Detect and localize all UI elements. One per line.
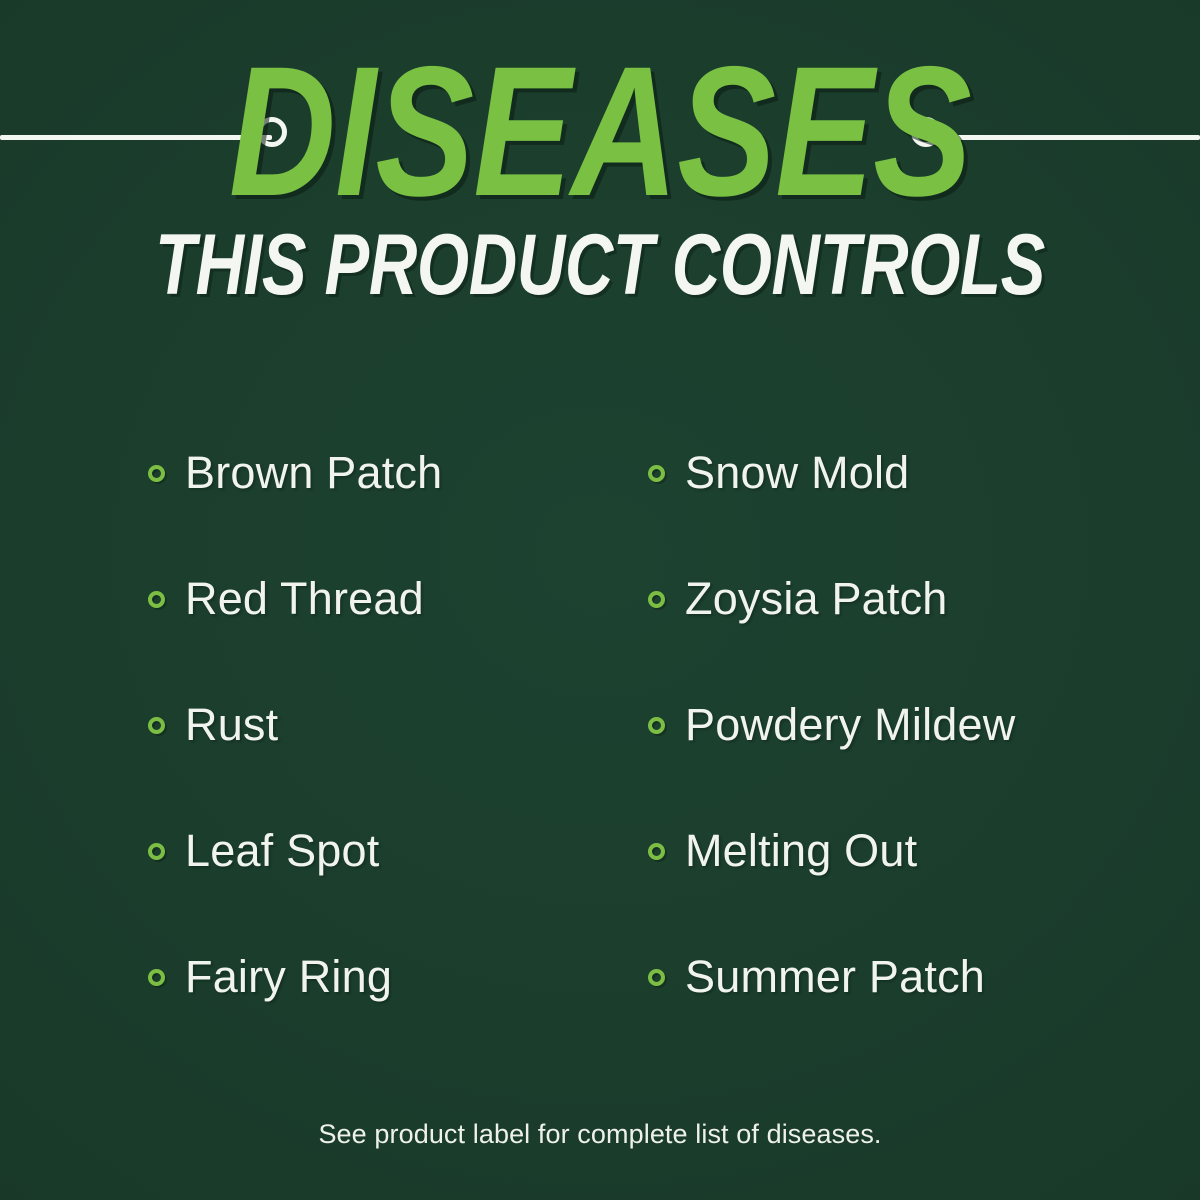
- disease-label: Powdery Mildew: [685, 700, 1015, 750]
- disease-label: Brown Patch: [185, 448, 442, 498]
- page-title: DISEASES: [120, 40, 1080, 225]
- circle-outline-bullet-icon: [648, 591, 665, 608]
- list-item: Zoysia Patch: [648, 536, 1148, 662]
- list-item: Fairy Ring: [148, 914, 648, 1040]
- circle-outline-bullet-icon: [148, 969, 165, 986]
- circle-outline-bullet-icon: [148, 717, 165, 734]
- circle-outline-bullet-icon: [648, 969, 665, 986]
- circle-outline-bullet-icon: [148, 591, 165, 608]
- disease-label: Red Thread: [185, 574, 424, 624]
- disease-label: Zoysia Patch: [685, 574, 948, 624]
- disease-label: Snow Mold: [685, 448, 909, 498]
- footer-disclaimer: See product label for complete list of d…: [0, 1117, 1200, 1151]
- circle-outline-bullet-icon: [648, 465, 665, 482]
- circle-outline-bullet-icon: [648, 843, 665, 860]
- header-band: DISEASES THIS PRODUCT CONTROLS: [0, 0, 1200, 280]
- list-item: Rust: [148, 662, 648, 788]
- disease-label: Rust: [185, 700, 278, 750]
- list-item: Brown Patch: [148, 410, 648, 536]
- diseases-poster: DISEASES THIS PRODUCT CONTROLS Brown Pat…: [0, 0, 1200, 1200]
- list-item: Powdery Mildew: [648, 662, 1148, 788]
- circle-outline-bullet-icon: [148, 843, 165, 860]
- disease-label: Melting Out: [685, 826, 917, 876]
- list-item: Leaf Spot: [148, 788, 648, 914]
- list-item: Snow Mold: [648, 410, 1148, 536]
- list-item: Red Thread: [148, 536, 648, 662]
- disease-label: Leaf Spot: [185, 826, 379, 876]
- disease-label: Fairy Ring: [185, 952, 392, 1002]
- disease-column-right: Snow Mold Zoysia Patch Powdery Mildew Me…: [648, 410, 1148, 1050]
- disease-list: Brown Patch Red Thread Rust Leaf Spot Fa…: [0, 410, 1200, 1050]
- page-subtitle: THIS PRODUCT CONTROLS: [132, 222, 1068, 308]
- list-item: Melting Out: [648, 788, 1148, 914]
- disease-label: Summer Patch: [685, 952, 985, 1002]
- list-item: Summer Patch: [648, 914, 1148, 1040]
- disease-column-left: Brown Patch Red Thread Rust Leaf Spot Fa…: [148, 410, 648, 1050]
- circle-outline-bullet-icon: [648, 717, 665, 734]
- circle-outline-bullet-icon: [148, 465, 165, 482]
